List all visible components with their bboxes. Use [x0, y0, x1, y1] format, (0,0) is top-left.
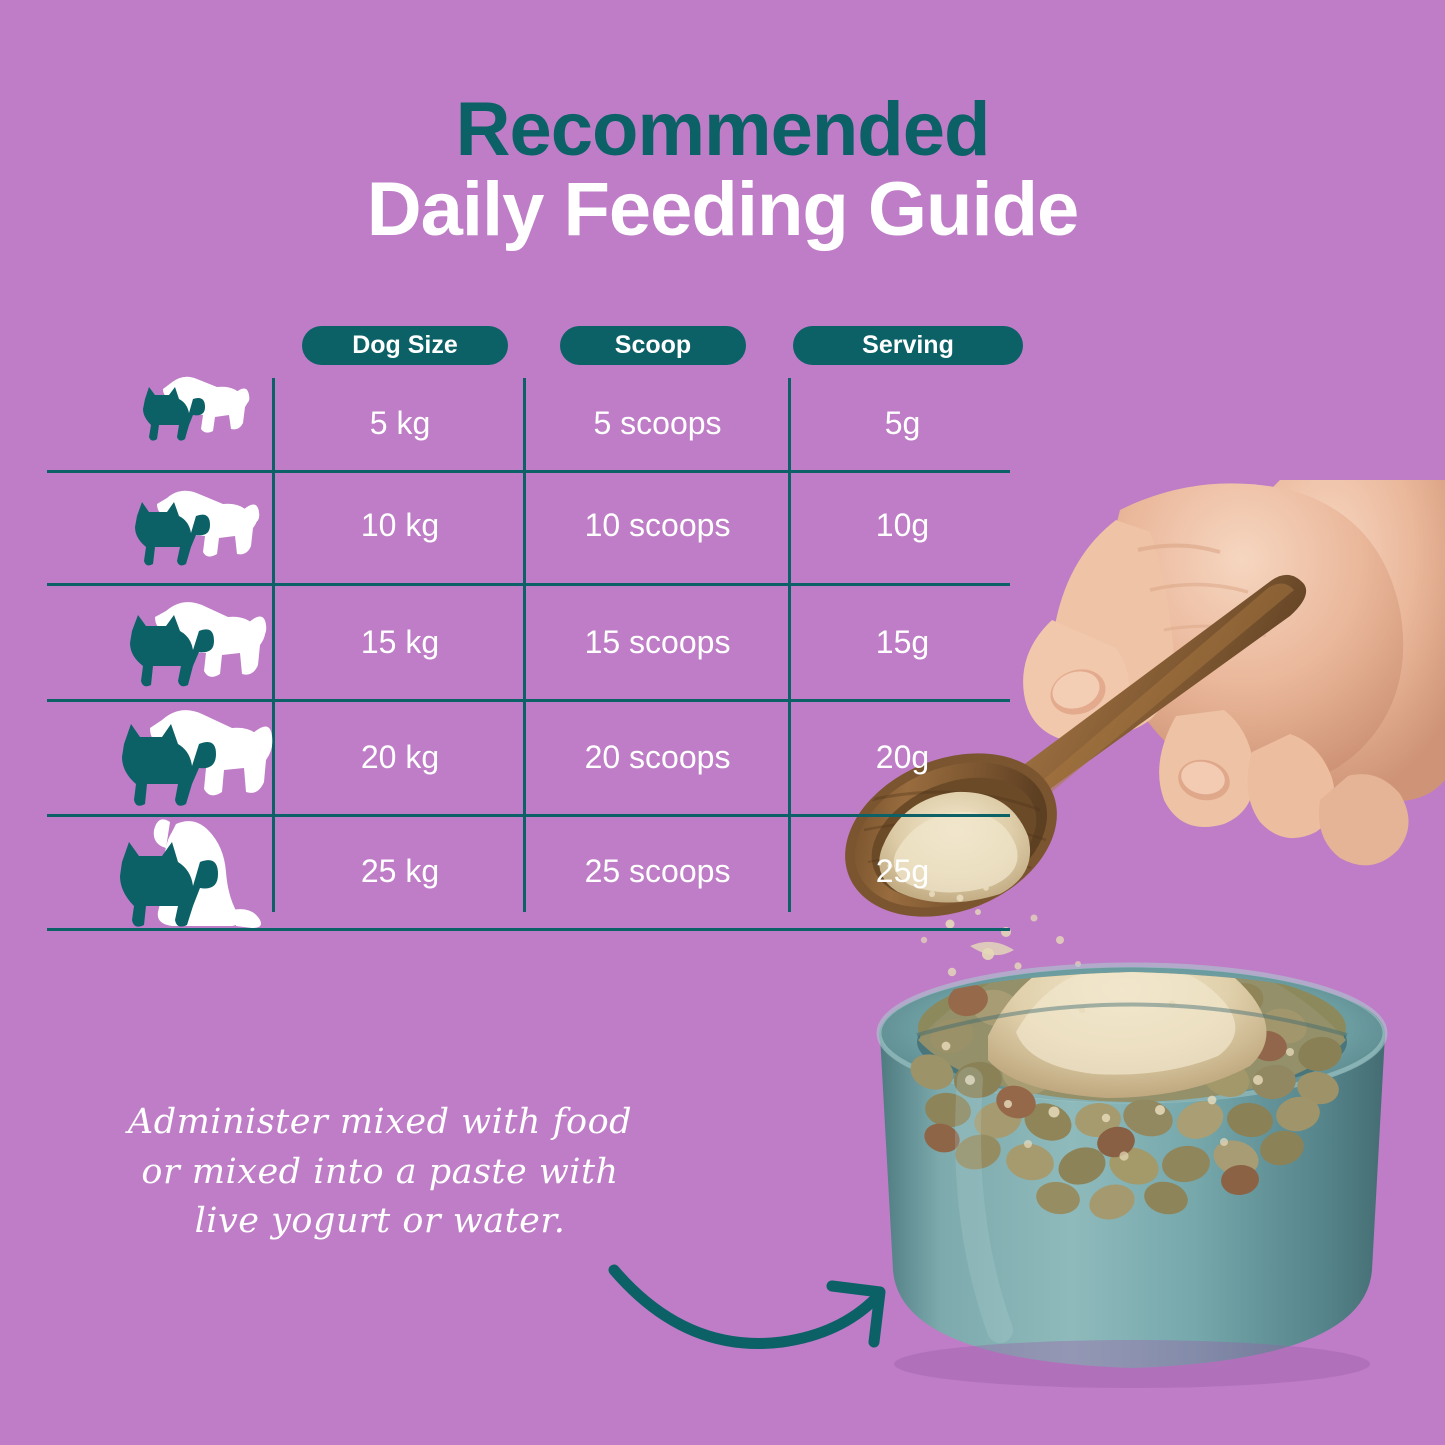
- usage-note-line-1: Administer mixed with food: [60, 1098, 700, 1148]
- cell-dog-size: 5 kg: [280, 403, 520, 443]
- cell-scoop: 20 scoops: [530, 737, 785, 777]
- cell-dog-size: 20 kg: [280, 737, 520, 777]
- cell-scoop: 5 scoops: [530, 403, 785, 443]
- dog-food-bowl-graphic: [879, 943, 1385, 1388]
- table-gridline-h: [47, 814, 1010, 817]
- dog-and-cat-icon: [135, 373, 253, 445]
- cell-dog-size: 10 kg: [280, 505, 520, 545]
- feeding-guide-infographic: Recommended Daily Feeding Guide: [0, 0, 1445, 1445]
- table-gridline-v: [523, 378, 526, 912]
- table-header-serving: Serving: [793, 326, 1023, 365]
- curved-arrow-icon: [590, 1250, 900, 1370]
- dog-and-cat-icon: [114, 704, 276, 809]
- cell-serving: 20g: [795, 737, 1010, 777]
- usage-note-line-3: live yogurt or water.: [60, 1197, 700, 1247]
- cell-dog-size: 25 kg: [280, 851, 520, 891]
- cell-scoop: 15 scoops: [530, 622, 785, 662]
- table-gridline-v: [788, 378, 791, 912]
- dog-and-cat-icon: [112, 818, 272, 930]
- table-gridline-v: [272, 378, 275, 912]
- cell-scoop: 25 scoops: [530, 851, 785, 891]
- hand-holding-spoon-graphic: [1023, 480, 1445, 865]
- table-header-scoop: Scoop: [560, 326, 746, 365]
- cell-scoop: 10 scoops: [530, 505, 785, 545]
- dog-and-cat-icon: [127, 486, 263, 568]
- usage-note-line-2: or mixed into a paste with: [60, 1148, 700, 1198]
- table-gridline-h: [47, 583, 1010, 586]
- usage-note: Administer mixed with food or mixed into…: [60, 1098, 700, 1247]
- cell-serving: 5g: [795, 403, 1010, 443]
- page-title-line-2: Daily Feeding Guide: [0, 172, 1445, 248]
- table-gridline-h: [47, 699, 1010, 702]
- dog-and-cat-icon: [122, 597, 270, 689]
- page-title-line-1: Recommended: [0, 92, 1445, 168]
- cell-serving: 15g: [795, 622, 1010, 662]
- table-header-dog-size: Dog Size: [302, 326, 508, 365]
- cell-serving: 25g: [795, 851, 1010, 891]
- cell-serving: 10g: [795, 505, 1010, 545]
- cell-dog-size: 15 kg: [280, 622, 520, 662]
- table-gridline-h: [47, 470, 1010, 473]
